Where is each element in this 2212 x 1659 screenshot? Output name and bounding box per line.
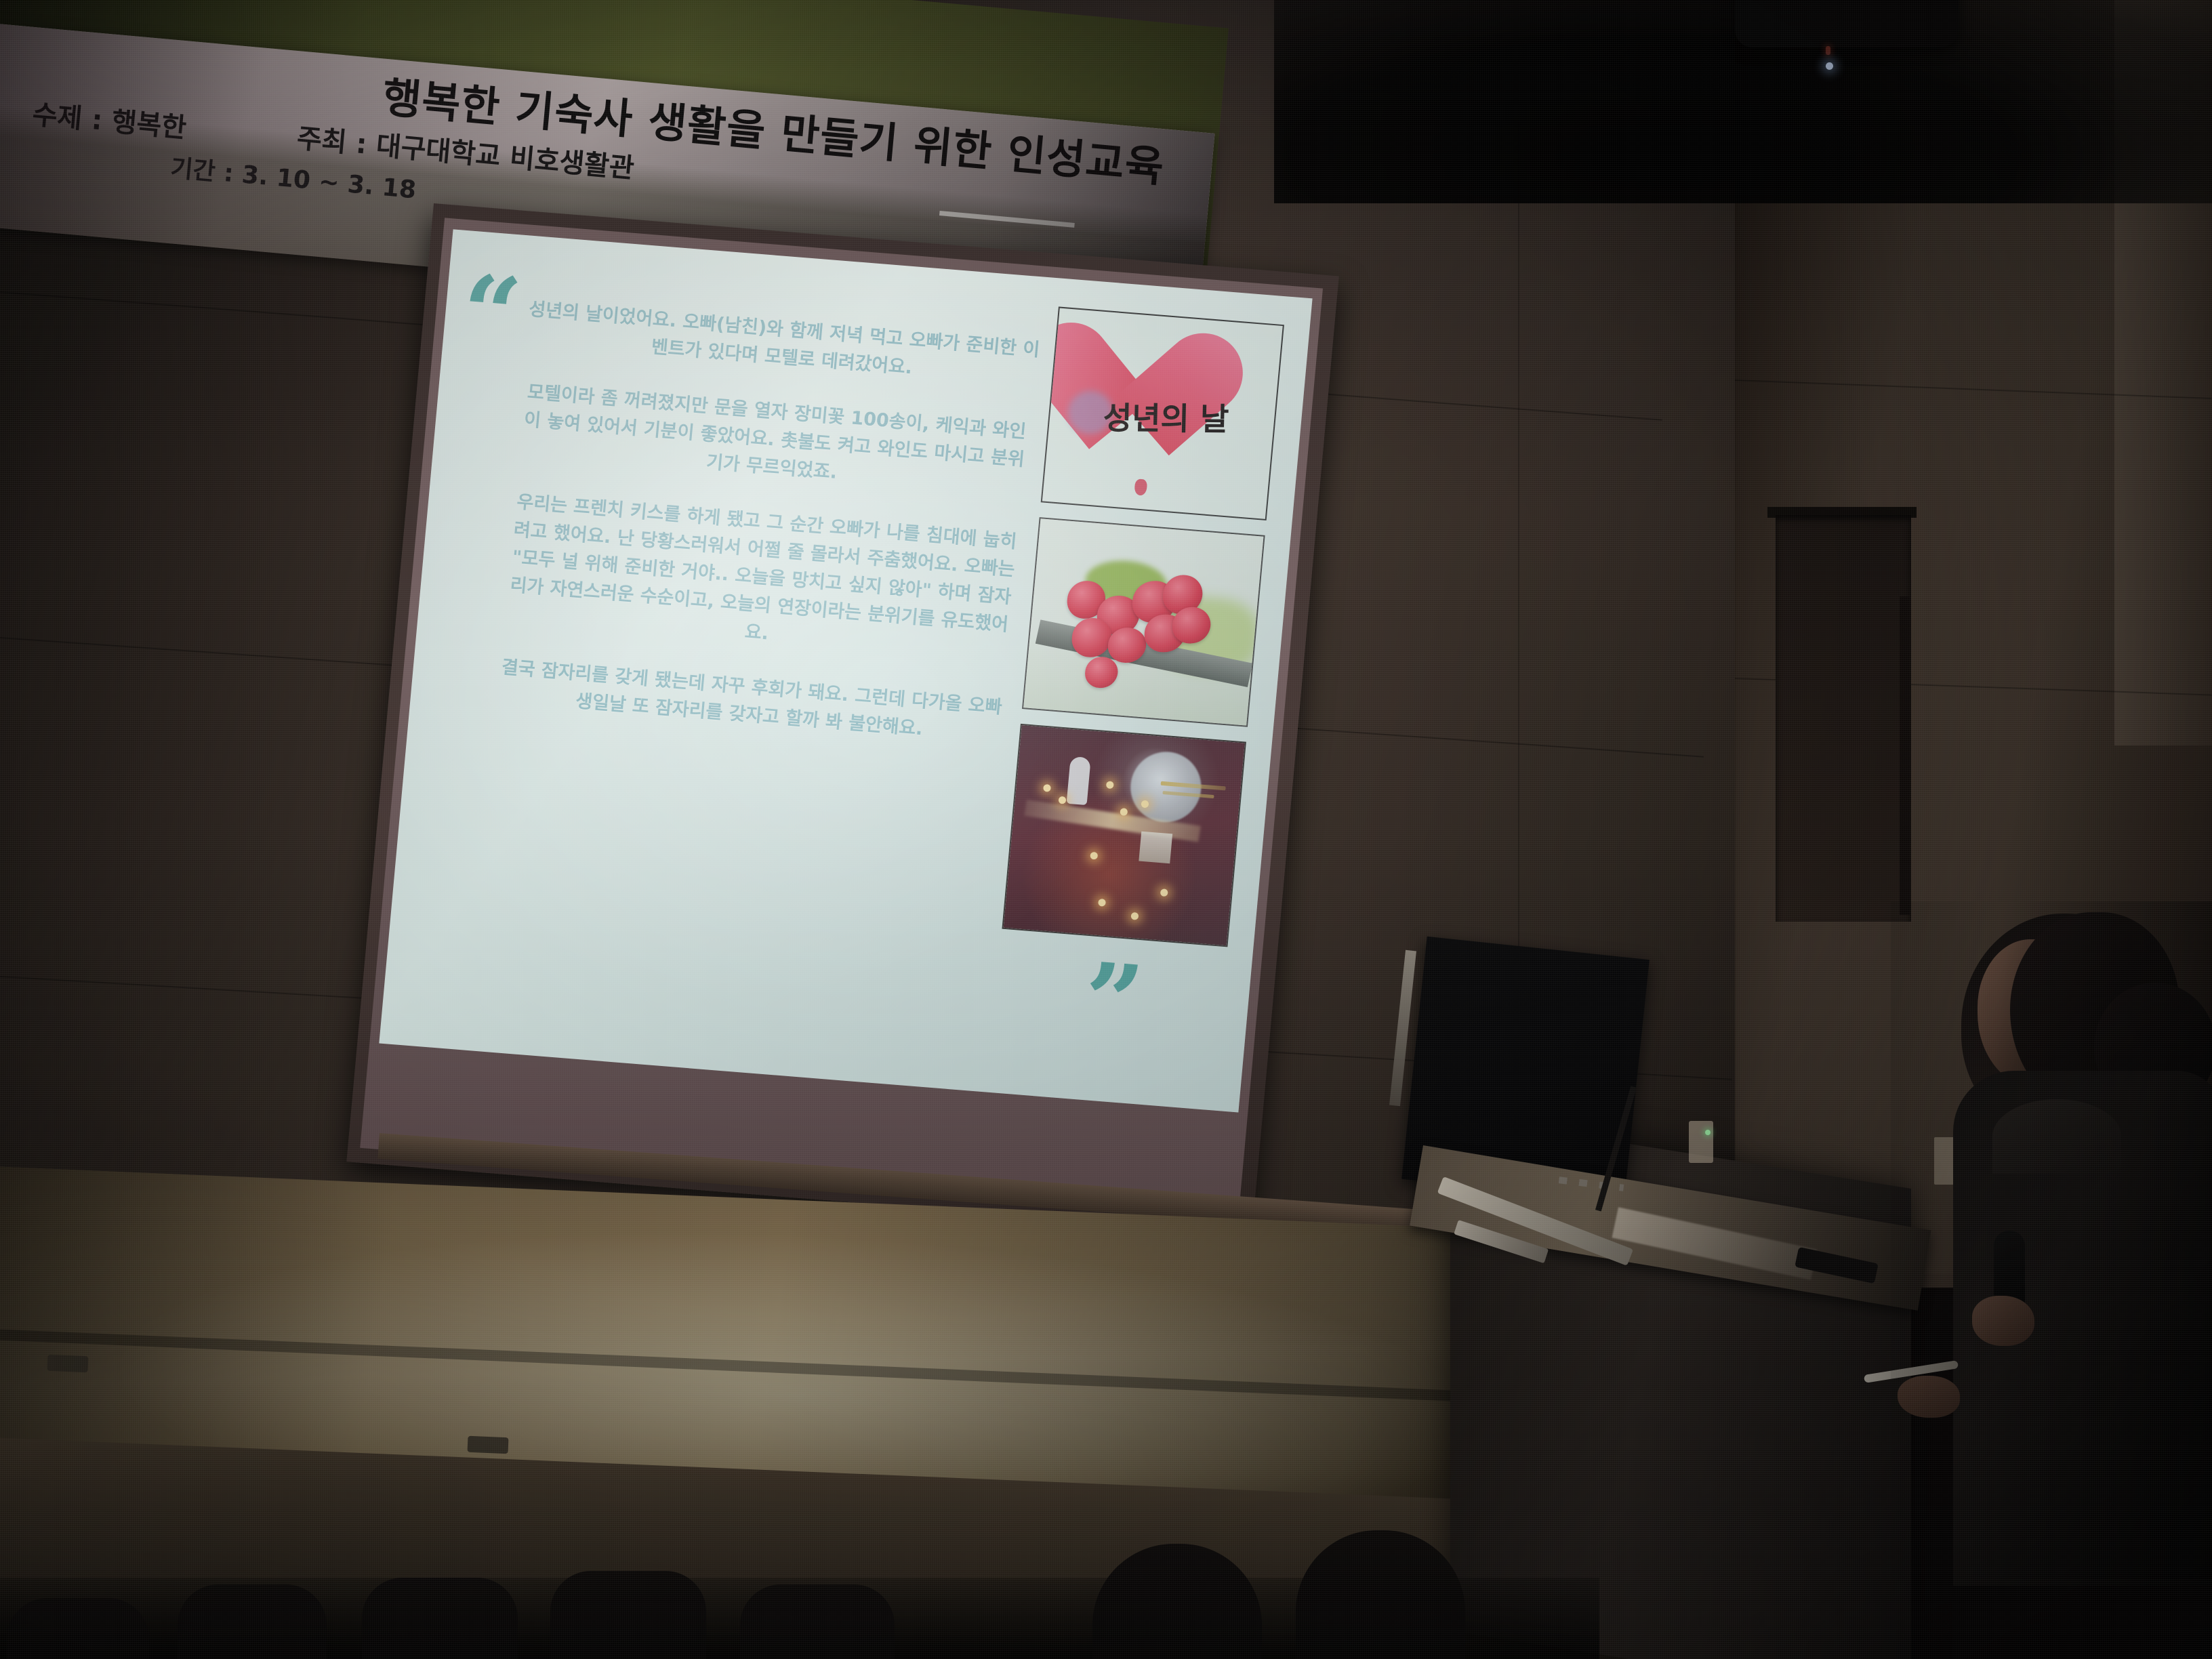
- floor-outlet: [468, 1436, 509, 1454]
- projection-screen: “ ” 성년의 날이었어요. 오빠(남친)와 함께 저녁 먹고 오빠가 준비한 …: [346, 203, 1338, 1235]
- presenter: [1891, 901, 2212, 1579]
- ceiling-indicator-red-icon: [1826, 46, 1830, 55]
- floor-outlet: [47, 1355, 89, 1372]
- heart-caption: 성년의 날: [1103, 394, 1267, 440]
- auditorium-seat: [362, 1578, 518, 1659]
- auditorium-seat: [7, 1598, 149, 1659]
- presenter-shoulder-highlight: [1992, 1099, 2121, 1174]
- auditorium-seat: [740, 1584, 895, 1659]
- silhouette-figure: [1067, 756, 1091, 805]
- auditorium-seat: [178, 1584, 327, 1659]
- slide-paragraph: 성년의 날이었어요. 오빠(남친)와 함께 저녁 먹고 오빠가 준비한 이벤트가…: [524, 295, 1042, 392]
- ceiling-led-indicator-icon: [1826, 62, 1833, 70]
- slide-photo-candlelit-night: [1002, 724, 1246, 947]
- slide-quote-text: 성년의 날이었어요. 오빠(남친)와 함께 저녁 먹고 오빠가 준비한 이벤트가…: [491, 295, 1042, 750]
- wall-socket-plate: [1689, 1121, 1713, 1163]
- auditorium-seat: [550, 1571, 706, 1659]
- banner-subject: 수제 : 행복한: [31, 99, 188, 144]
- slide-image-column: 성년의 날: [1000, 306, 1282, 962]
- presentation-slide: “ ” 성년의 날이었어요. 오빠(남친)와 함께 저녁 먹고 오빠가 준비한 …: [379, 229, 1312, 1112]
- wall-socket-led-icon: [1705, 1130, 1711, 1135]
- slide-photo-red-roses: [1022, 517, 1265, 727]
- door-jamb: [1900, 596, 1910, 915]
- heart-drip: [1134, 478, 1147, 495]
- close-quote-icon: ”: [1081, 963, 1146, 1040]
- presenter-hand-on-lectern: [1898, 1376, 1960, 1418]
- side-door[interactable]: [1776, 515, 1911, 922]
- slide-paragraph: 결국 잠자리를 갖게 됐는데 자꾸 후회가 돼요. 그런데 다가올 오빠 생일날…: [491, 653, 1010, 750]
- slide-paragraph: 모텔이라 좀 꺼려졌지만 문을 열자 장미꽃 100송이, 케익과 와인이 놓여…: [514, 377, 1035, 502]
- open-quote-icon: “: [459, 275, 524, 352]
- ceiling-speaker: [1735, 0, 1959, 47]
- slide-photo-coming-of-age-heart: 성년의 날: [1041, 306, 1284, 520]
- lit-window: [1139, 832, 1172, 864]
- night-scene-background: [1004, 725, 1245, 945]
- slide-paragraph: 우리는 프렌치 키스를 하게 됐고 그 순간 오빠가 나를 침대에 눕히려고 했…: [499, 488, 1025, 668]
- auditorium-photo-scene: 행복한 기숙사 생활을 만들기 위한 인성교육 수제 : 행복한 주최 : 대구…: [0, 0, 2212, 1659]
- presenter-hand-holding-mic: [1972, 1296, 2034, 1346]
